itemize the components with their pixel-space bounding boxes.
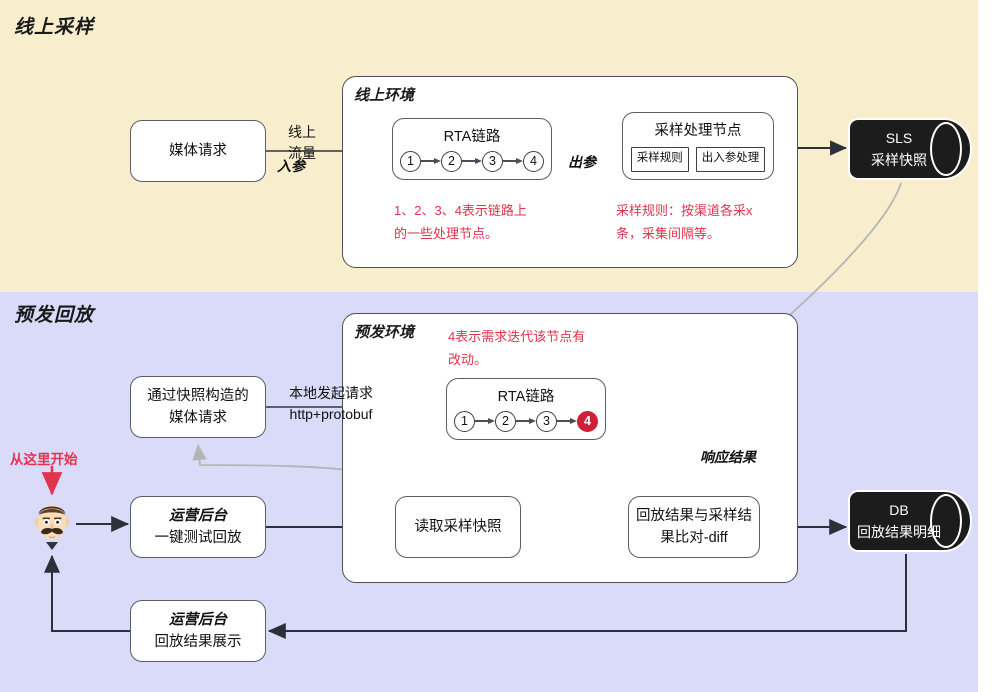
edge-label-out-param: 出参 (568, 152, 596, 173)
chain-arrow-icon (462, 157, 482, 165)
node-sampling-processor[interactable]: 采样处理节点 采样规则 出入参处理 (622, 112, 774, 180)
note-start-here: 从这里开始 (10, 448, 78, 472)
node-replay-diff[interactable]: 回放结果与采样结 果比对-diff (628, 496, 760, 558)
node-rta-chain-pre-title: RTA链路 (498, 386, 555, 408)
container-pre-env-label: 预发环境 (354, 321, 414, 342)
node-rta-chain-pre[interactable]: RTA链路 1 2 3 4 (446, 378, 606, 440)
rta-online-step-3: 3 (482, 151, 503, 172)
datastore-db-line2: 回放结果明细 (857, 521, 941, 543)
node-media-request[interactable]: 媒体请求 (130, 120, 266, 182)
chain-arrow-icon (503, 157, 523, 165)
chain-arrow-icon (421, 157, 441, 165)
person-face-icon (30, 498, 74, 550)
datastore-sls-line2: 采样快照 (871, 149, 927, 171)
section-title-online: 线上采样 (14, 12, 94, 39)
node-read-sampling-snapshot-label: 读取采样快照 (415, 516, 502, 538)
node-replay-diff-line2: 果比对-diff (660, 527, 727, 549)
rta-pre-step-2: 2 (495, 411, 516, 432)
pill-sampling-rule[interactable]: 采样规则 (631, 147, 689, 172)
rta-pre-step-4-highlighted: 4 (577, 411, 598, 432)
rta-pre-step-3: 3 (536, 411, 557, 432)
pill-io-param-handling[interactable]: 出入参处理 (696, 147, 766, 172)
node-console-replay-results-line2: 回放结果展示 (155, 631, 242, 653)
chain-arrow-icon (516, 417, 536, 425)
container-online-env-label: 线上环境 (354, 84, 414, 105)
node-console-replay-results-line1: 运营后台 (169, 609, 227, 631)
datastore-db-line1: DB (889, 499, 908, 521)
node-built-media-request[interactable]: 通过快照构造的 媒体请求 (130, 376, 266, 438)
rta-online-step-2: 2 (441, 151, 462, 172)
node-console-one-click-test-line1: 运营后台 (169, 505, 227, 527)
datastore-db[interactable]: DB 回放结果明细 (848, 490, 972, 552)
chain-arrow-icon (557, 417, 577, 425)
diagram-canvas: 线上采样 预发回放 (0, 0, 1000, 692)
sampling-processor-pills: 采样规则 出入参处理 (631, 147, 766, 172)
node-console-one-click-test[interactable]: 运营后台 一键测试回放 (130, 496, 266, 558)
note-node-four-changed: 4表示需求迭代该节点有 改动。 (448, 326, 628, 372)
rta-pre-chain: 1 2 3 4 (454, 411, 598, 432)
node-console-one-click-test-line2: 一键测试回放 (155, 527, 242, 549)
chain-arrow-icon (475, 417, 495, 425)
edge-label-response: 响应结果 (700, 447, 756, 468)
node-built-media-request-line2: 媒体请求 (169, 407, 227, 429)
node-sampling-processor-title: 采样处理节点 (655, 120, 742, 142)
node-replay-diff-line1: 回放结果与采样结 (636, 505, 752, 527)
node-media-request-label: 媒体请求 (169, 140, 227, 162)
edge-label-in-param: 入参 (277, 156, 305, 177)
section-title-pre: 预发回放 (14, 300, 94, 327)
node-built-media-request-line1: 通过快照构造的 (147, 385, 249, 407)
note-chain-nodes: 1、2、3、4表示链路上 的一些处理节点。 (394, 200, 559, 246)
rta-online-step-4: 4 (523, 151, 544, 172)
node-rta-chain-online[interactable]: RTA链路 1 2 3 4 (392, 118, 552, 180)
note-sampling-rule: 采样规则：按渠道各采x 条，采集间隔等。 (616, 200, 788, 246)
rta-online-chain: 1 2 3 4 (400, 151, 544, 172)
rta-pre-step-1: 1 (454, 411, 475, 432)
edge-label-local-request: 本地发起请求 http+protobuf (289, 383, 373, 425)
node-console-replay-results[interactable]: 运营后台 回放结果展示 (130, 600, 266, 662)
node-read-sampling-snapshot[interactable]: 读取采样快照 (395, 496, 521, 558)
rta-online-step-1: 1 (400, 151, 421, 172)
datastore-sls-line1: SLS (886, 127, 912, 149)
node-rta-chain-online-title: RTA链路 (444, 126, 501, 148)
datastore-sls[interactable]: SLS 采样快照 (848, 118, 972, 180)
